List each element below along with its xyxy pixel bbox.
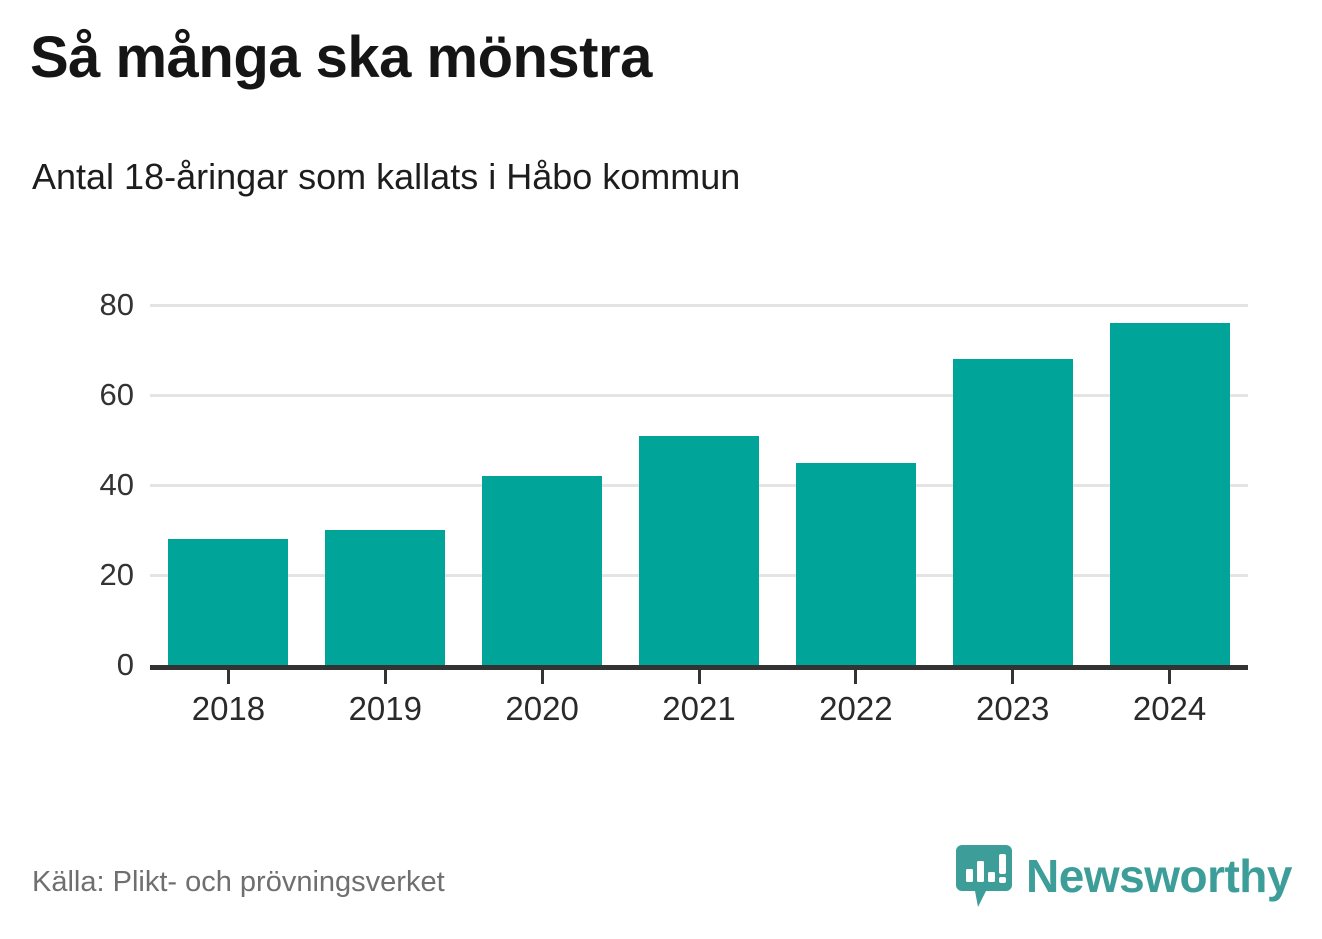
bar[interactable]: [796, 463, 916, 666]
x-axis-tick: [384, 670, 387, 684]
page-subtitle: Antal 18-åringar som kallats i Håbo komm…: [32, 157, 740, 197]
x-axis-tick-label: 2020: [505, 690, 578, 728]
plot-area: [150, 305, 1248, 665]
y-axis-tick-label: 20: [100, 557, 134, 593]
chart-page: Så många ska mönstra Antal 18-åringar so…: [0, 0, 1322, 939]
bar[interactable]: [953, 359, 1073, 665]
bar[interactable]: [1110, 323, 1230, 665]
y-axis-tick-label: 60: [100, 377, 134, 413]
x-axis-tick-label: 2021: [662, 690, 735, 728]
page-title: Så många ska mönstra: [30, 28, 652, 89]
y-axis-tick-label: 80: [100, 287, 134, 323]
bar-chart: 020406080 2018201920202021202220232024: [0, 250, 1322, 750]
x-axis-tick-label: 2022: [819, 690, 892, 728]
x-axis-tick-label: 2019: [349, 690, 422, 728]
source-note: Källa: Plikt- och prövningsverket: [32, 866, 445, 899]
newsworthy-wordmark: Newsworthy: [1026, 853, 1292, 899]
newsworthy-bar-chart-bubble-icon: [956, 845, 1012, 907]
x-axis-tick-label: 2024: [1133, 690, 1206, 728]
bar[interactable]: [325, 530, 445, 665]
x-axis-tick: [1168, 670, 1171, 684]
y-axis-tick-label: 0: [117, 647, 134, 683]
bar[interactable]: [639, 436, 759, 666]
bar[interactable]: [168, 539, 288, 665]
x-axis-tick: [227, 670, 230, 684]
x-axis-tick: [854, 670, 857, 684]
x-axis-ticks: [150, 670, 1248, 684]
x-axis-tick: [541, 670, 544, 684]
y-axis-tick-label: 40: [100, 467, 134, 503]
x-axis-tick: [698, 670, 701, 684]
bar[interactable]: [482, 476, 602, 665]
x-axis-tick: [1011, 670, 1014, 684]
newsworthy-logo[interactable]: Newsworthy: [956, 845, 1292, 907]
bar-series: [150, 305, 1248, 665]
x-axis-tick-label: 2018: [192, 690, 265, 728]
x-axis-tick-label: 2023: [976, 690, 1049, 728]
x-axis-labels: 2018201920202021202220232024: [150, 690, 1248, 740]
